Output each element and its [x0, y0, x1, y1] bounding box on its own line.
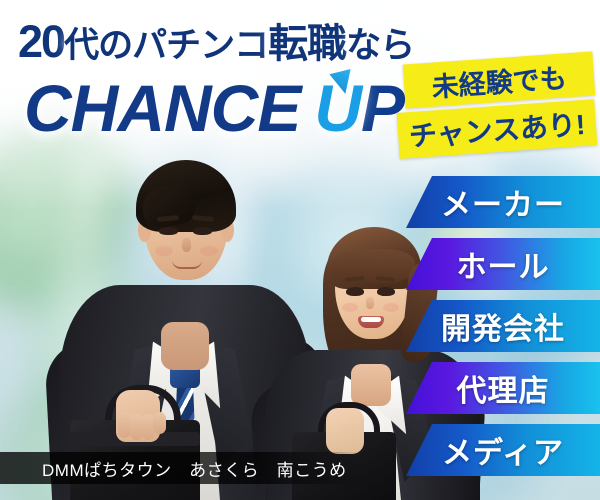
credit-text: DMMぱちタウン あさくら 南こうめ	[0, 456, 347, 481]
category-label-developer: 開発会社	[441, 304, 565, 348]
logo-letter-u: U	[314, 71, 361, 145]
category-item-agency[interactable]: 代理店	[406, 362, 600, 414]
headline-tail: なら	[346, 26, 414, 65]
headline-kanji: 転職	[268, 22, 346, 66]
category-item-media[interactable]: メディア	[406, 424, 600, 476]
category-item-maker[interactable]: メーカー	[406, 176, 600, 228]
credit-strip: DMMぱちタウン あさくら 南こうめ	[0, 452, 362, 484]
category-label-hall: ホール	[457, 242, 550, 286]
logo-chance-up: CHANCEUP	[24, 72, 404, 144]
category-label-agency: 代理店	[457, 366, 550, 410]
headline-mid: 代のパチンコ	[64, 26, 268, 65]
category-item-hall[interactable]: ホール	[406, 238, 600, 290]
badge-no-experience-label: 未経験でも	[430, 56, 567, 104]
headline-number: 20	[18, 16, 64, 67]
page-title: 20代のパチンコ転職なら	[18, 18, 448, 66]
recruitment-banner[interactable]: 20代のパチンコ転職なら CHANCEUP 未経験でも チャンスあり! メーカー…	[0, 0, 600, 500]
hand-woman	[326, 408, 364, 454]
badge-chance-available-label: チャンスあり!	[408, 103, 587, 155]
logo-word-chance: CHANCE	[24, 71, 300, 145]
category-label-maker: メーカー	[441, 180, 565, 224]
category-label-media: メディア	[442, 428, 564, 472]
category-list: メーカー ホール 開発会社 代理店 メディア	[406, 176, 600, 486]
category-item-developer[interactable]: 開発会社	[406, 300, 600, 352]
